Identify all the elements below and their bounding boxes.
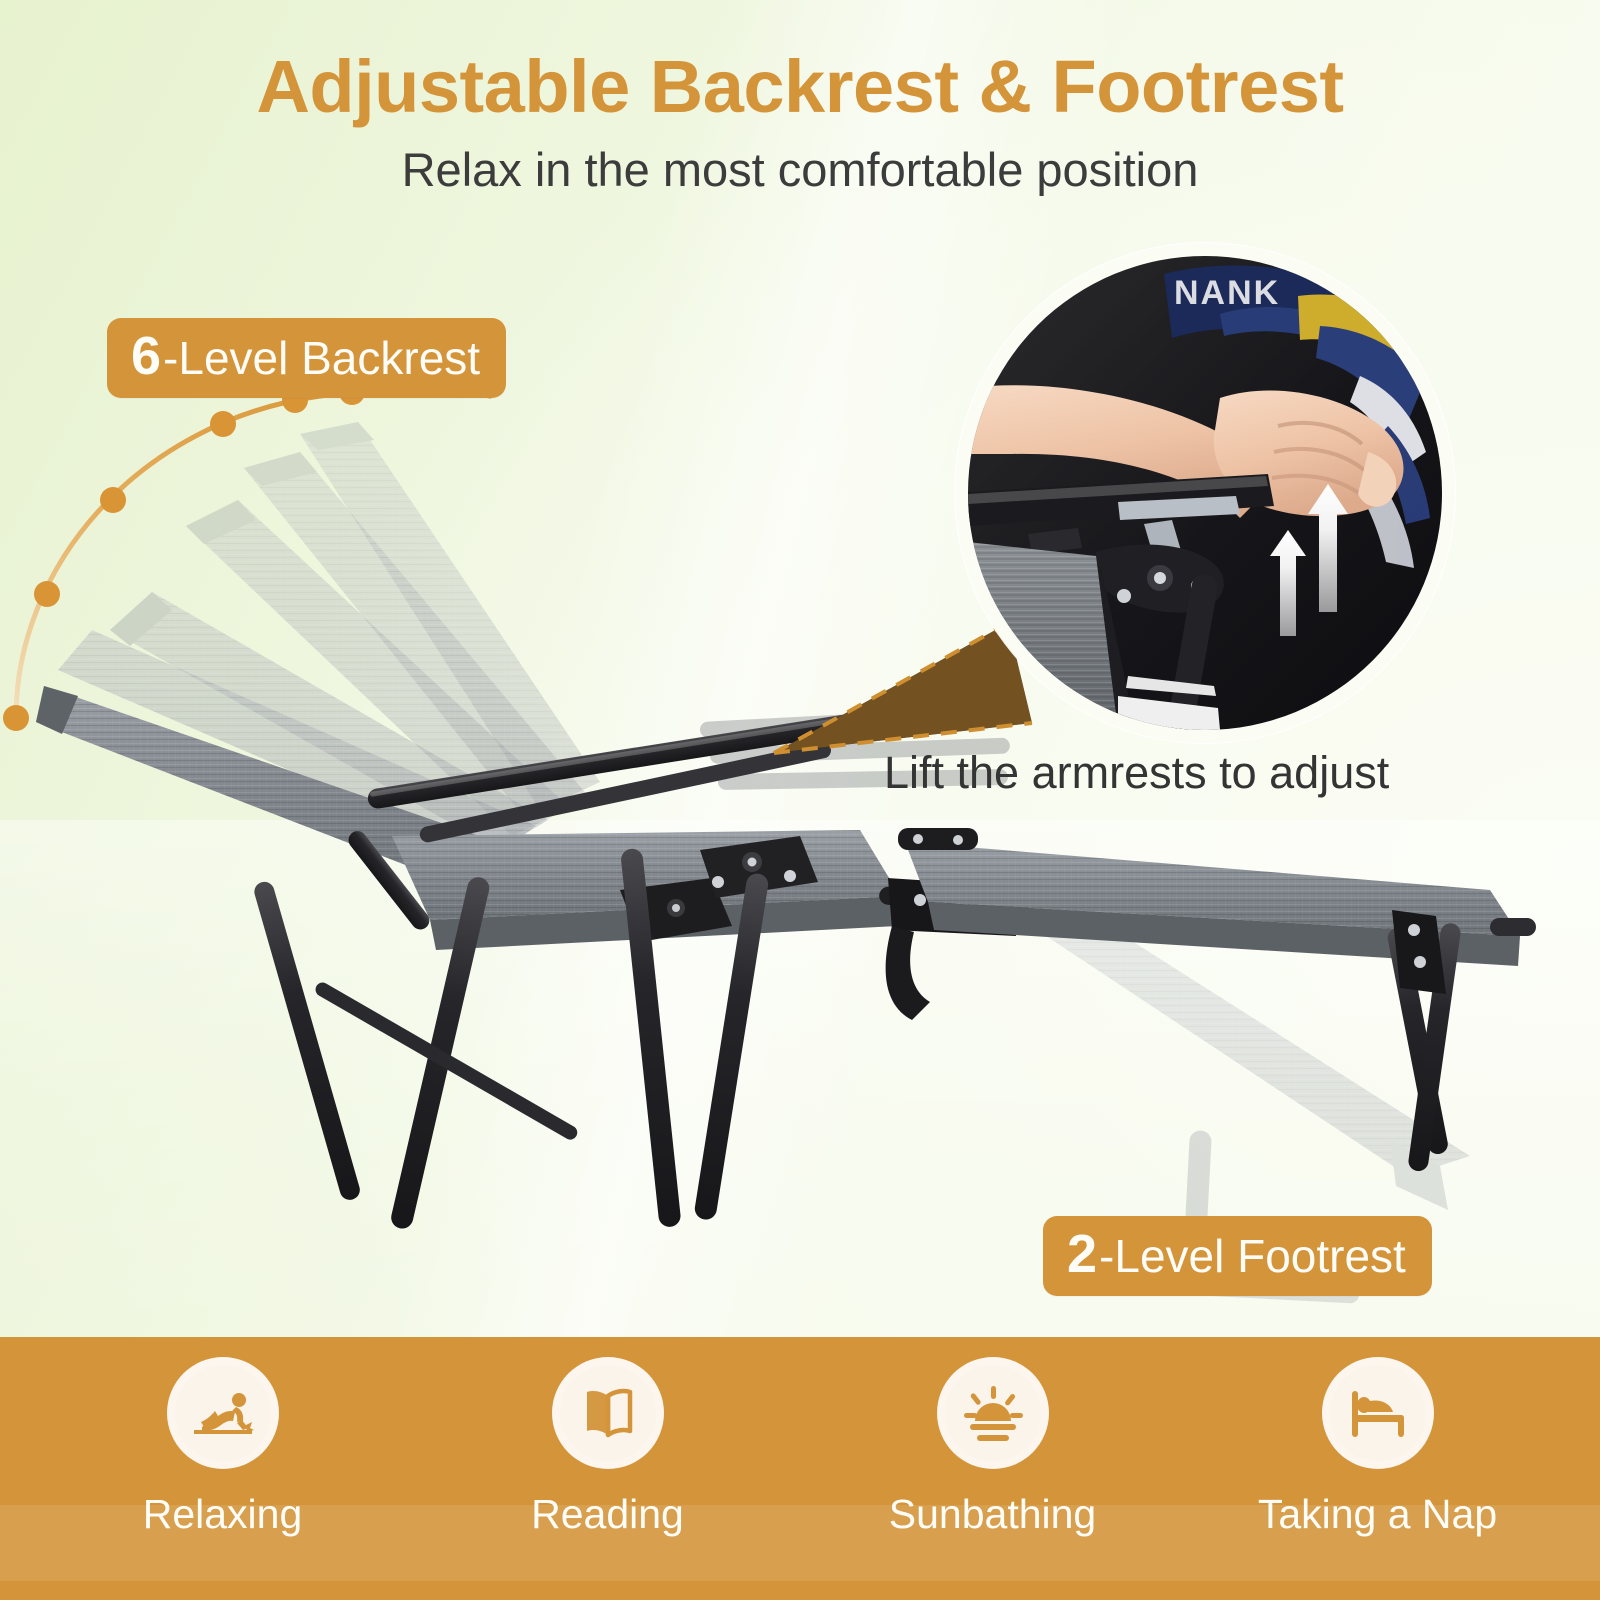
open-book-icon bbox=[552, 1357, 664, 1469]
badge-6-level-backrest: 6 -Level Backrest bbox=[107, 318, 506, 398]
use-case-label: Sunbathing bbox=[889, 1491, 1096, 1538]
use-cases-bar: Relaxing Reading bbox=[0, 1337, 1600, 1600]
use-case-list: Relaxing Reading bbox=[0, 1337, 1600, 1600]
infographic-canvas: Adjustable Backrest & Footrest Relax in … bbox=[0, 0, 1600, 1600]
sun-rising-icon bbox=[937, 1357, 1049, 1469]
lift-armrests-label: Lift the armrests to adjust bbox=[884, 747, 1524, 799]
badge-backrest-number: 6 bbox=[131, 329, 161, 383]
seat-mesh-closeup bbox=[968, 542, 1118, 730]
use-case-taking-a-nap: Taking a Nap bbox=[1228, 1337, 1528, 1538]
use-case-relaxing: Relaxing bbox=[73, 1337, 373, 1538]
use-case-reading: Reading bbox=[458, 1337, 758, 1538]
page-subtitle: Relax in the most comfortable position bbox=[0, 142, 1600, 197]
person-reclining-icon bbox=[167, 1357, 279, 1469]
badge-backrest-label: -Level Backrest bbox=[163, 335, 480, 381]
bed-icon bbox=[1322, 1357, 1434, 1469]
armrest-closeup-photo: NANK bbox=[955, 243, 1455, 743]
page-title: Adjustable Backrest & Footrest bbox=[0, 44, 1600, 129]
badge-2-level-footrest: 2 -Level Footrest bbox=[1043, 1216, 1432, 1296]
use-case-label: Taking a Nap bbox=[1258, 1491, 1497, 1538]
shirt-graphic-text: NANK bbox=[1174, 274, 1280, 312]
badge-footrest-number: 2 bbox=[1067, 1227, 1097, 1281]
use-case-label: Reading bbox=[531, 1491, 684, 1538]
badge-footrest-label: -Level Footrest bbox=[1099, 1233, 1406, 1279]
use-case-sunbathing: Sunbathing bbox=[843, 1337, 1143, 1538]
use-case-label: Relaxing bbox=[143, 1491, 303, 1538]
